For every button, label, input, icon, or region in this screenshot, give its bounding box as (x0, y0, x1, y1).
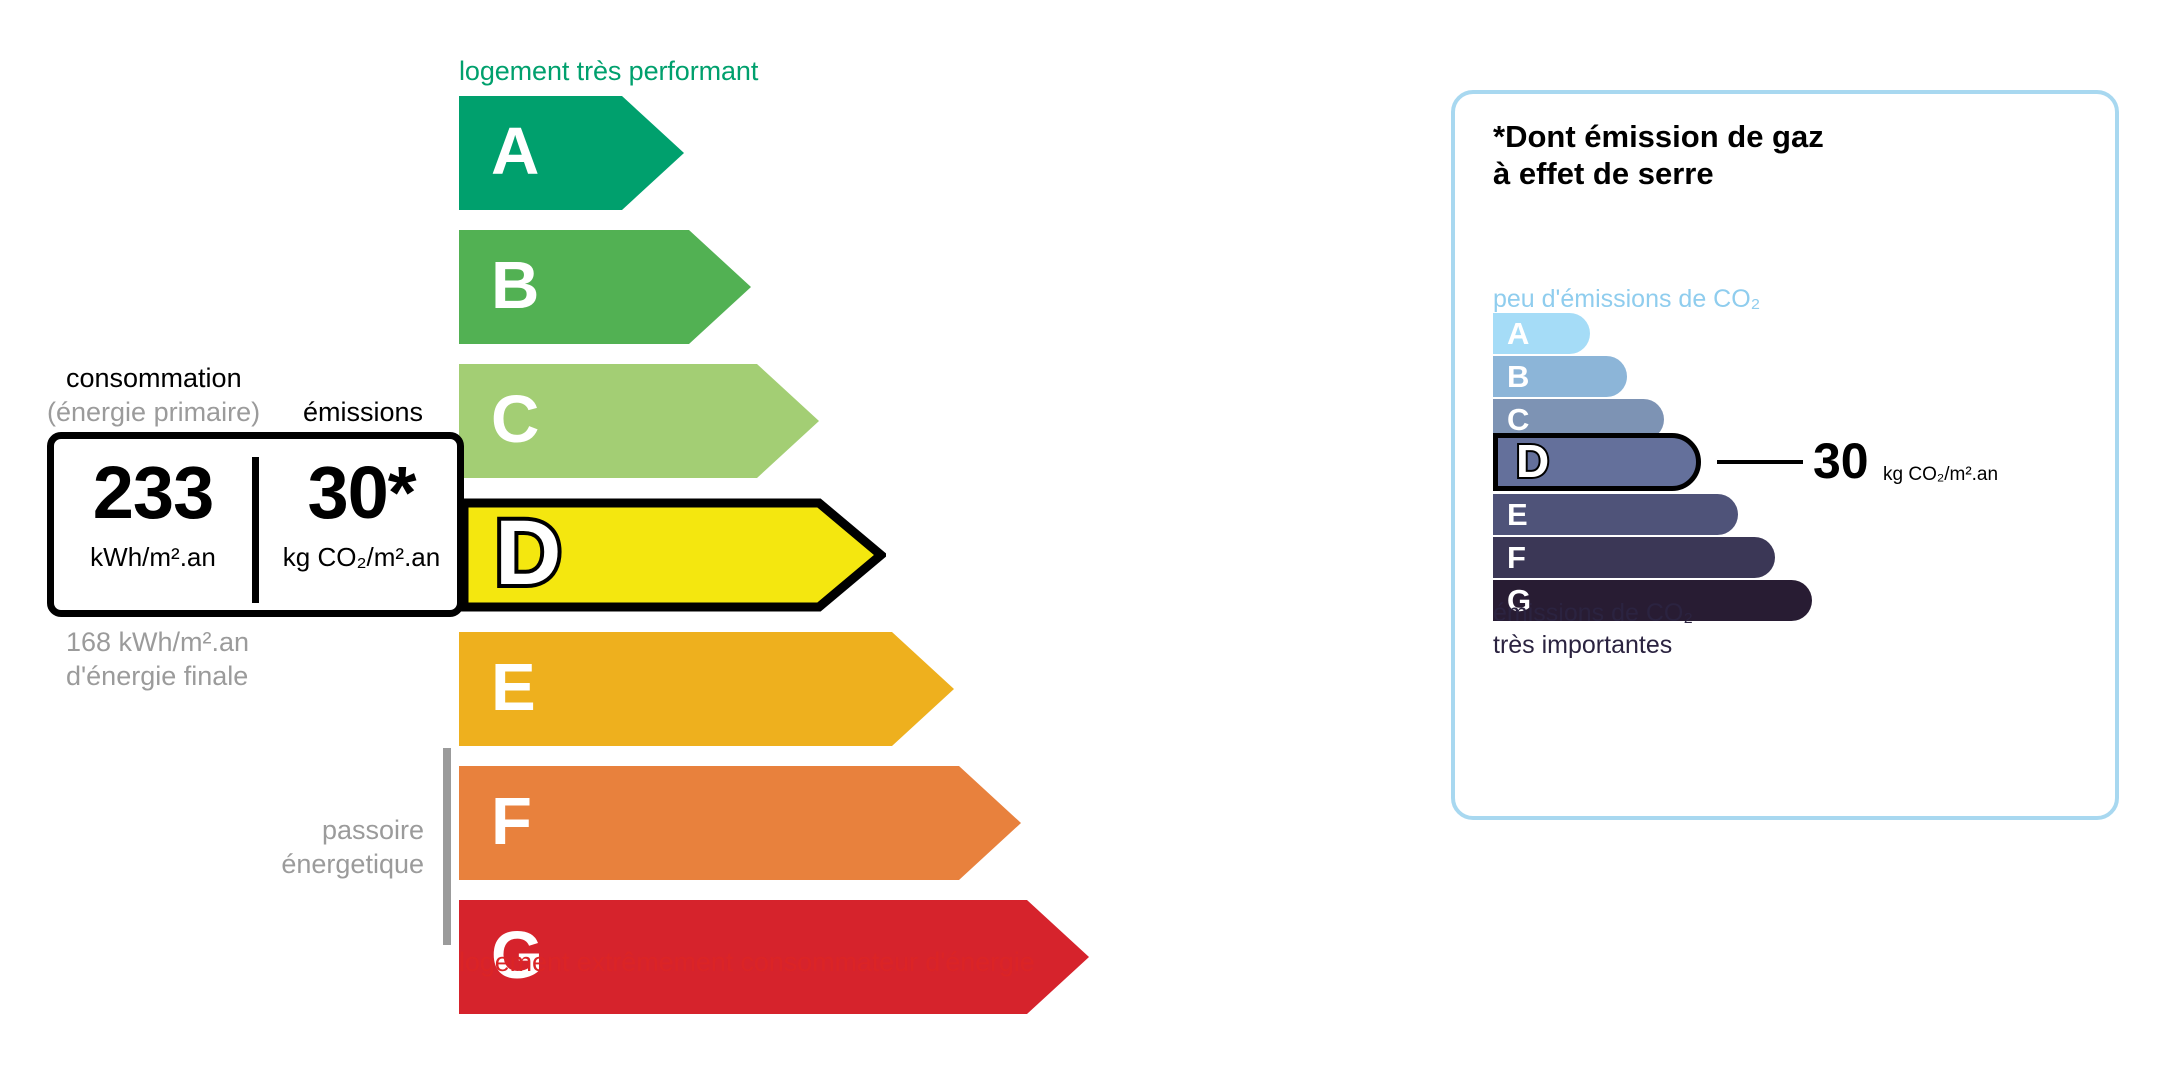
emission-cell: 30* kg CO₂/m².an (259, 439, 464, 610)
emissions-label: émissions (303, 397, 423, 428)
energy-class-row-d: D (459, 498, 886, 612)
co2-class-letter-c: C (1507, 403, 1529, 434)
co2-class-row-a: A (1493, 313, 1590, 354)
energy-arrow-shape-c: C (459, 364, 819, 478)
co2-top-caption: peu d'émissions de CO₂ (1493, 285, 1760, 314)
emission-value: 30* (259, 456, 464, 530)
co2-value-unit: kg CO₂/m².an (1883, 464, 1998, 486)
co2-value: 30 (1813, 436, 1869, 486)
passoire-label-line1: passoire (0, 815, 424, 846)
energy-top-caption: logement très performant (459, 56, 758, 87)
co2-bar-b: B (1493, 356, 1627, 397)
energy-class-letter-f: F (491, 788, 532, 855)
consumption-label: consommation (66, 363, 242, 394)
energy-class-row-b: B (459, 230, 751, 344)
dpe-diagram: logement très performant ABCDEFG passoir… (0, 0, 2169, 1079)
energy-arrow-shape-f: F (459, 766, 1021, 880)
co2-class-row-d: D (1493, 433, 1701, 491)
energy-class-row-e: E (459, 632, 954, 746)
final-energy-label: d'énergie finale (66, 661, 248, 692)
co2-panel-title: *Dont émission de gaz à effet de serre (1493, 119, 1824, 192)
energy-performance-panel: logement très performant ABCDEFG passoir… (0, 0, 1400, 1079)
energy-class-letter-e: E (491, 654, 536, 721)
co2-class-letter-b: B (1507, 360, 1529, 391)
final-energy-value: 168 kWh/m².an (66, 627, 249, 658)
co2-bar-a: A (1493, 313, 1590, 354)
energy-class-letter-c: C (491, 386, 539, 453)
consumption-cell: 233 kWh/m².an (54, 439, 252, 610)
co2-bottom-caption-line1: émissions de CO₂ (1493, 599, 1693, 628)
co2-bar-e: E (1493, 494, 1738, 535)
co2-emissions-panel: *Dont émission de gaz à effet de serre p… (1451, 90, 2119, 820)
emission-unit: kg CO₂/m².an (259, 542, 464, 573)
co2-leader-line (1717, 460, 1803, 464)
energy-class-letter-d: D (495, 507, 561, 599)
consumption-unit: kWh/m².an (54, 542, 252, 573)
passoire-bracket (443, 748, 451, 945)
co2-class-letter-f: F (1507, 541, 1526, 572)
value-box: 233 kWh/m².an 30* kg CO₂/m².an (47, 432, 464, 617)
energy-bottom-caption: logement extrêmement consommateur d'éner… (459, 947, 1035, 978)
energy-class-row-f: F (459, 766, 1021, 880)
energy-arrow-shape-b: B (459, 230, 751, 344)
primary-energy-label: (énergie primaire) (47, 397, 260, 428)
value-box-divider (252, 457, 259, 603)
co2-class-row-b: B (1493, 356, 1627, 397)
energy-arrow-shape-a: A (459, 96, 684, 210)
energy-class-letter-a: A (491, 118, 539, 185)
energy-class-row-c: C (459, 364, 819, 478)
energy-class-letter-b: B (491, 252, 539, 319)
co2-class-row-f: F (1493, 537, 1775, 578)
co2-bar-d: D (1493, 433, 1701, 491)
consumption-value: 233 (54, 456, 252, 530)
energy-class-row-a: A (459, 96, 684, 210)
co2-class-letter-d: D (1516, 438, 1549, 484)
energy-arrow-shape-d: D (459, 498, 886, 612)
co2-bar-f: F (1493, 537, 1775, 578)
co2-class-row-e: E (1493, 494, 1738, 535)
co2-class-letter-e: E (1507, 498, 1528, 529)
energy-arrow-shape-e: E (459, 632, 954, 746)
co2-class-letter-a: A (1507, 317, 1529, 348)
passoire-label-line2: énergetique (0, 849, 424, 880)
co2-bottom-caption-line2: très importantes (1493, 631, 1672, 660)
